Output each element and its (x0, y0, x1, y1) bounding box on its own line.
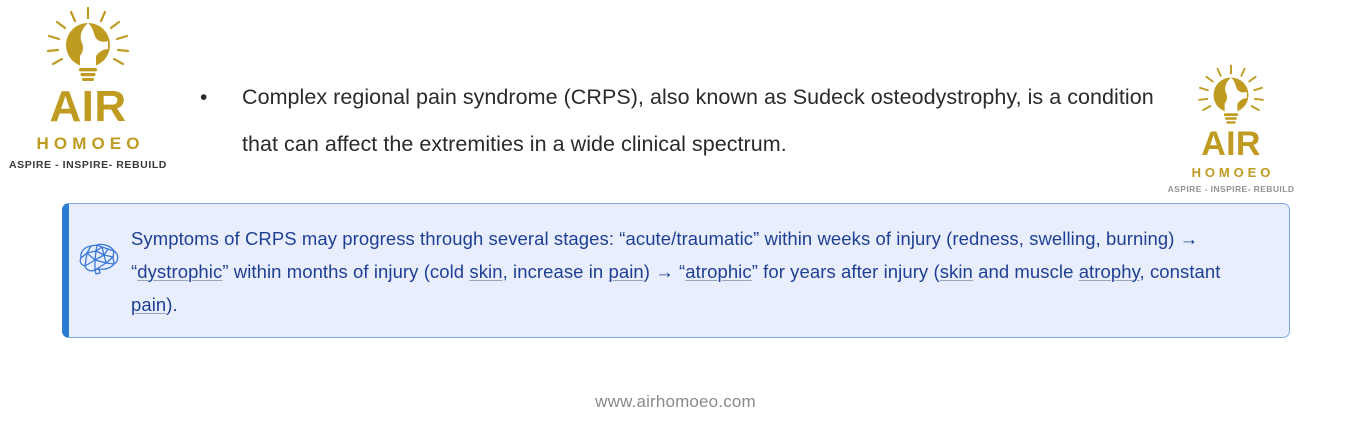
callout-run-10: and muscle (973, 261, 1079, 282)
brain-icon (69, 204, 131, 280)
callout-term-11: atrophy (1079, 261, 1140, 282)
callout-box: Symptoms of CRPS may progress through se… (62, 203, 1290, 338)
callout-run-4: , increase in (503, 261, 609, 282)
lightbulb-idea-icon (1189, 64, 1273, 126)
callout-term-1: dystrophic (137, 261, 222, 282)
callout-run-6: ) → “ (644, 261, 685, 282)
logo-left: AIR HOMOEO ASPIRE - INSPIRE- REBUILD (8, 6, 168, 171)
bullet-text: Complex regional pain syndrome (CRPS), a… (242, 74, 1156, 168)
logo-right: AIR HOMOEO ASPIRE - INSPIRE- REBUILD (1166, 64, 1296, 194)
callout-term-3: skin (469, 261, 502, 282)
callout-text: Symptoms of CRPS may progress through se… (131, 204, 1289, 321)
logo-left-tagline: ASPIRE - INSPIRE- REBUILD (8, 160, 168, 171)
bullet-marker: • (196, 74, 242, 121)
callout-term-9: skin (940, 261, 973, 282)
logo-left-word: AIR (8, 85, 168, 129)
logo-right-tagline: ASPIRE - INSPIRE- REBUILD (1166, 185, 1296, 194)
callout-run-8: ” for years after injury ( (752, 261, 940, 282)
lightbulb-idea-icon (36, 6, 140, 84)
callout-run-14: ). (166, 294, 177, 315)
logo-left-subtitle: HOMOEO (8, 135, 168, 152)
callout-run-2: ” within months of injury (cold (222, 261, 469, 282)
callout-term-5: pain (609, 261, 644, 282)
callout-term-7: atrophic (685, 261, 751, 282)
slide-canvas: AIR HOMOEO ASPIRE - INSPIRE- REBUILD • C… (0, 0, 1351, 446)
callout-term-13: pain (131, 294, 166, 315)
logo-right-word: AIR (1166, 127, 1296, 161)
bullet-paragraph: • Complex regional pain syndrome (CRPS),… (196, 74, 1156, 168)
callout-run-12: , constant (1140, 261, 1221, 282)
logo-right-subtitle: HOMOEO (1166, 166, 1296, 179)
footer-url: www.airhomoeo.com (0, 392, 1351, 412)
